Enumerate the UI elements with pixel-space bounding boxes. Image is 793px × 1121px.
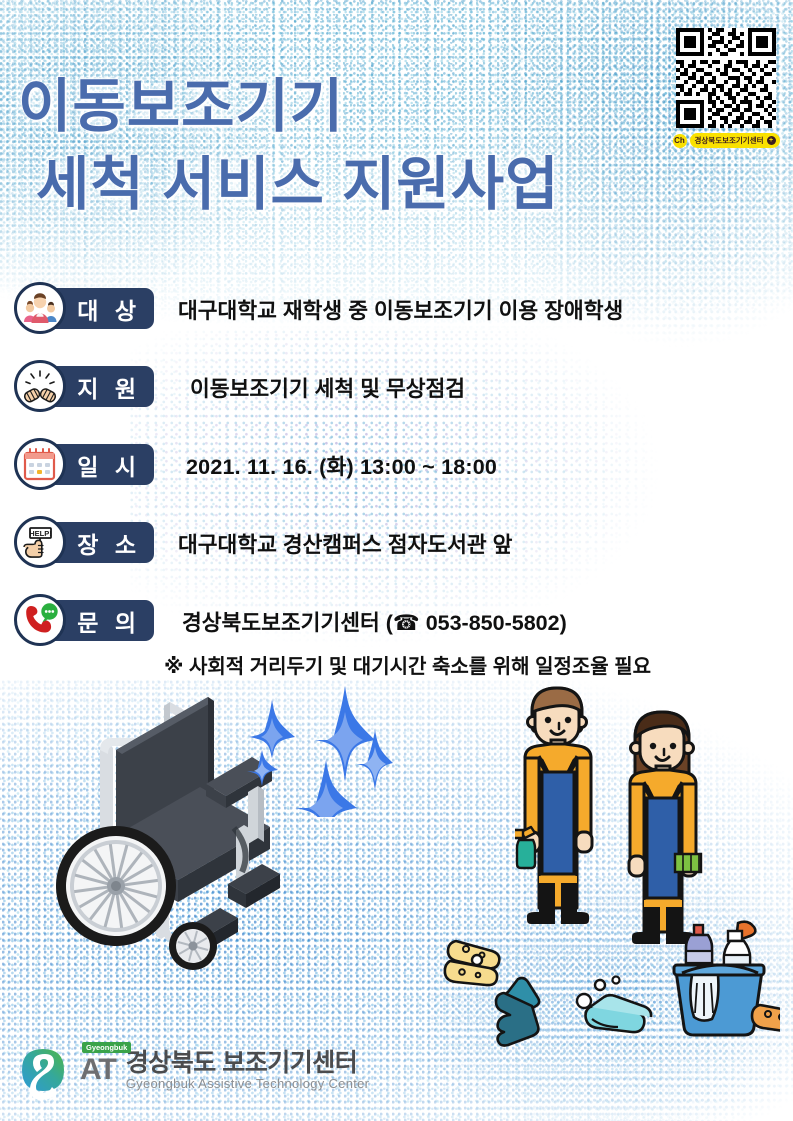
badge-label-munui: 문 의	[71, 604, 141, 638]
kakao-add-icon[interactable]: +	[767, 136, 776, 145]
badge-ilsi: 일 시	[0, 442, 160, 488]
info-value-ilsi: 2021. 11. 16. (화) 13:00 ~ 18:00	[186, 450, 497, 481]
logo-gyeongbuk-badge: Gyeongbuk	[82, 1042, 131, 1053]
qr-block[interactable]: Ch 경상북도보조기기센터 +	[673, 28, 779, 148]
kakao-channel-pill[interactable]: 경상북도보조기기센터 +	[690, 133, 780, 148]
illustration-area	[0, 670, 793, 1070]
kakao-channel-name: 경상북도보조기기센터	[695, 135, 764, 146]
svg-text:HELP!: HELP!	[29, 529, 52, 538]
badge-label-jangso: 장 소	[71, 526, 141, 560]
title-line-2: 세척 서비스 지원사업	[18, 146, 698, 224]
info-row-daesang: 대 상	[0, 278, 793, 340]
badge-label-daesang: 대 상	[71, 292, 141, 326]
logo-at-label: AT	[80, 1053, 116, 1086]
sparkle-icons	[245, 682, 395, 817]
footer-logo: Gyeongbuk AT 경상북도 보조기기센터 Gyeongbuk Assis…	[14, 1041, 369, 1099]
info-value-jiwon: 이동보조기기 세척 및 무상점검	[190, 372, 465, 403]
calendar-icon	[14, 438, 66, 490]
badge-munui: 문 의	[0, 598, 160, 644]
logo-name-en: Gyeongbuk Assistive Technology Center	[126, 1077, 370, 1091]
info-value-munui: 경상북도보조기기센터 (☎ 053-850-5802)	[182, 606, 567, 637]
cleaning-supplies-illustration	[440, 915, 780, 1065]
badge-label-ilsi: 일 시	[71, 448, 141, 482]
logo-name-block: 경상북도 보조기기센터 Gyeongbuk Assistive Technolo…	[126, 1050, 370, 1091]
poster-root: Ch 경상북도보조기기센터 + 이동보조기기 세척 서비스 지원사업 대 상	[0, 0, 793, 1121]
badge-label-jiwon: 지 원	[71, 370, 141, 404]
kakao-ch-icon: Ch	[673, 134, 687, 148]
info-row-munui: 문 의 경상북도보조기기센터	[0, 590, 793, 652]
badge-daesang: 대 상	[0, 286, 160, 332]
note-text: ※ 사회적 거리두기 및 대기시간 축소를 위해 일정조율 필요	[0, 650, 793, 679]
logo-at-text: Gyeongbuk AT	[80, 1053, 116, 1087]
info-row-ilsi: 일 시	[0, 434, 793, 496]
phone-chat-icon	[14, 594, 66, 646]
info-value-daesang: 대구대학교 재학생 중 이동보조기기 이용 장애학생	[178, 294, 623, 325]
info-row-jiwon: 지 원	[0, 356, 793, 418]
fist-bump-icon	[14, 360, 66, 412]
title-line-1: 이동보조기기	[18, 68, 698, 146]
family-group-icon	[14, 282, 66, 334]
info-value-jangso: 대구대학교 경산캠퍼스 점자도서관 앞	[178, 528, 512, 559]
page-title: 이동보조기기 세척 서비스 지원사업	[18, 68, 698, 224]
female-cleaner-illustration	[629, 712, 701, 944]
badge-jangso: 장 소 HELP!	[0, 520, 160, 566]
logo-name-kr: 경상북도 보조기기센터	[126, 1050, 370, 1076]
info-row-list: 대 상	[0, 278, 793, 668]
hand-help-sign-icon: HELP!	[14, 516, 66, 568]
kakao-channel-badge[interactable]: Ch 경상북도보조기기센터 +	[673, 133, 779, 148]
male-cleaner-illustration	[515, 688, 592, 924]
qr-code-icon[interactable]	[676, 28, 776, 128]
info-row-jangso: 장 소 HELP! 대구대학교 경산캠퍼스 점자도서관 앞	[0, 512, 793, 574]
at-ampersand-logo-icon	[14, 1041, 72, 1099]
badge-jiwon: 지 원	[0, 364, 160, 410]
